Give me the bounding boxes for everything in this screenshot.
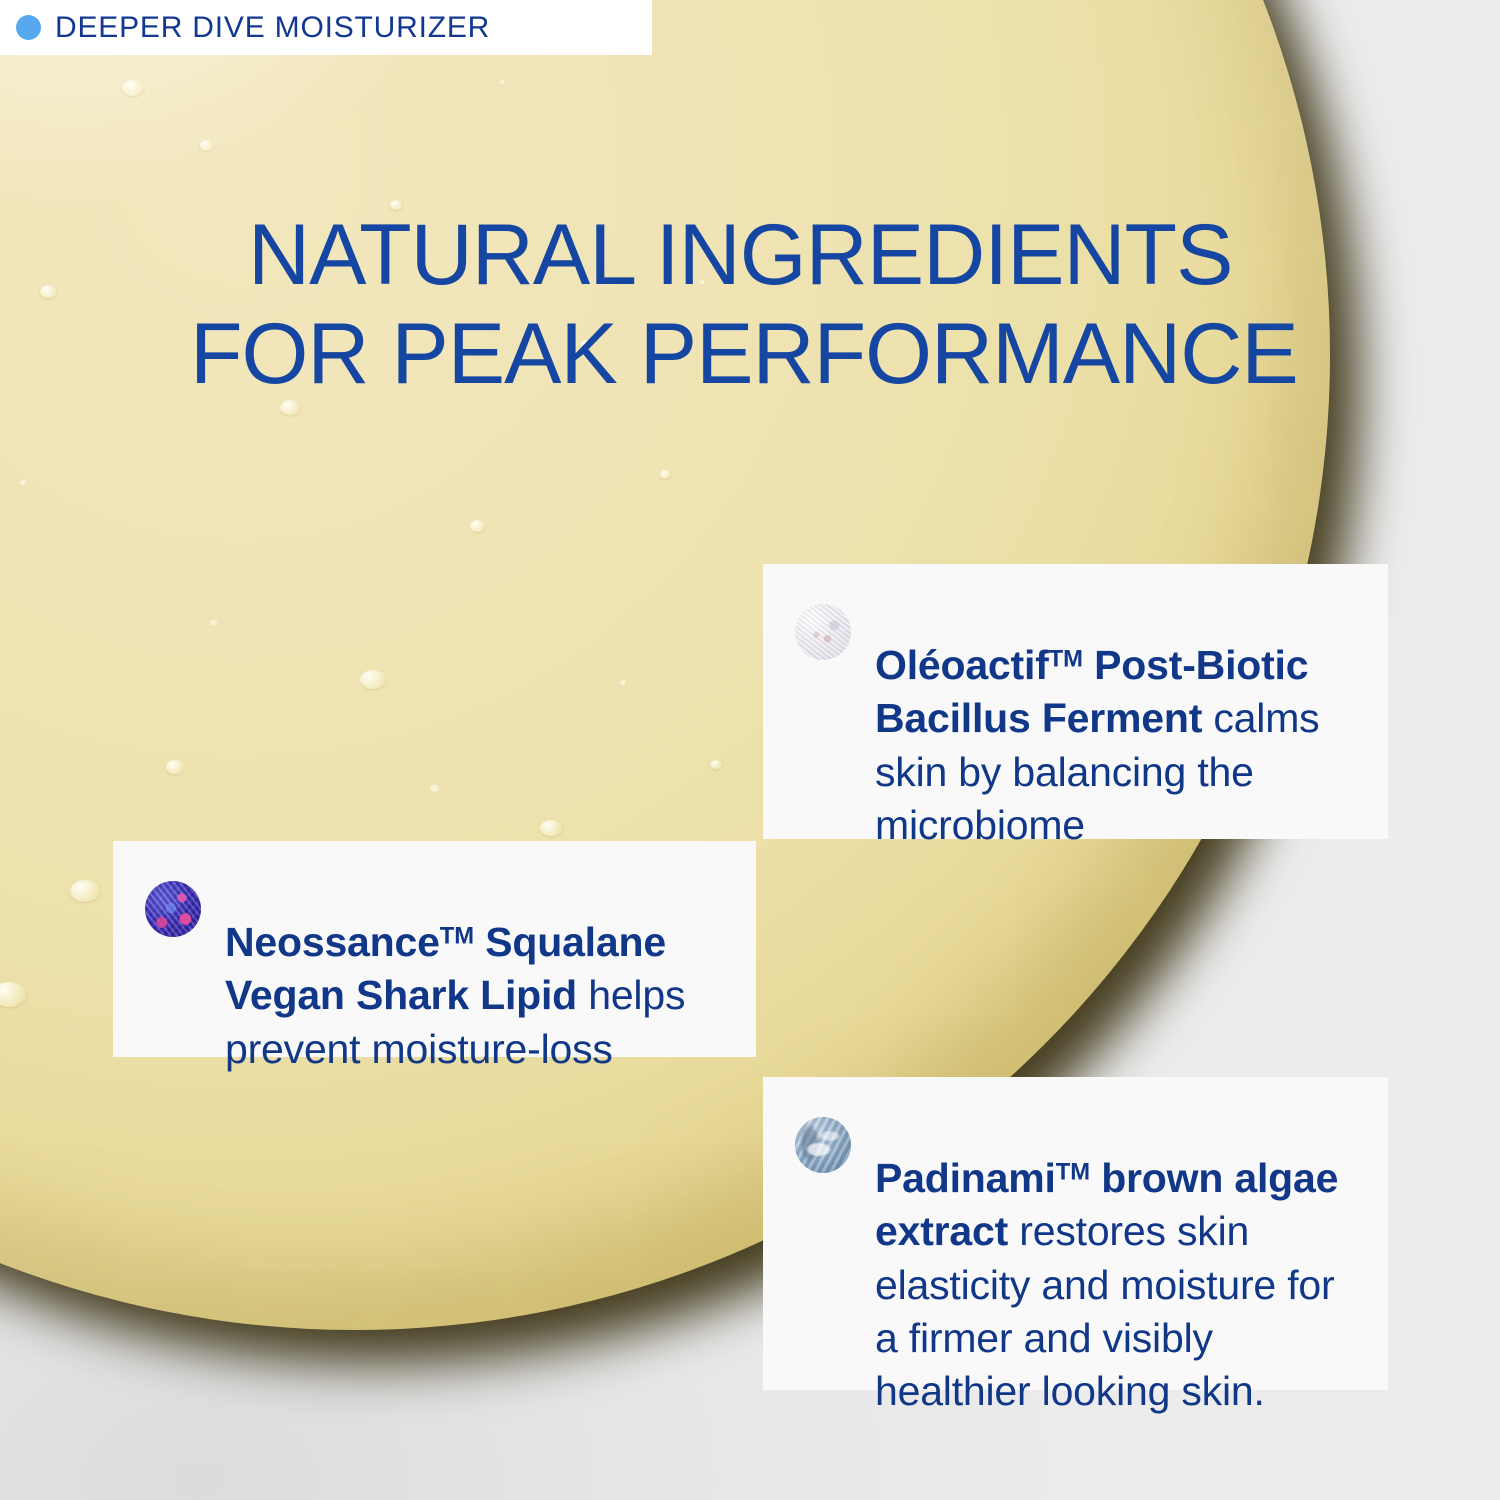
ingredient-name: Oléoactif — [875, 642, 1049, 688]
ingredient-name: Neossance — [225, 919, 440, 965]
eyebrow-banner: DEEPER DIVE MOISTURIZER — [0, 0, 652, 55]
ingredient-card-neossance: NeossanceTM Squalane Vegan Shark Lipid h… — [113, 841, 756, 1057]
ingredient-card-padinami: PadinamiTM brown algae extract restores … — [763, 1077, 1388, 1390]
trademark-symbol: TM — [1056, 1159, 1090, 1186]
ingredient-card-oleoactif: OléoactifTM Post-Biotic Bacillus Ferment… — [763, 564, 1388, 839]
page-title-line-2: FOR PEAK PERFORMANCE — [190, 305, 1428, 405]
ingredient-description: OléoactifTM Post-Biotic Bacillus Ferment… — [875, 639, 1358, 768]
neossance-ingredient-icon — [145, 881, 201, 937]
trademark-symbol: TM — [1049, 646, 1083, 673]
ingredient-description: PadinamiTM brown algae extract restores … — [875, 1152, 1358, 1319]
oleoactif-ingredient-icon — [795, 604, 851, 660]
page-title: NATURAL INGREDIENTS FOR PEAK PERFORMANCE — [248, 206, 1428, 406]
padinami-ingredient-icon — [795, 1117, 851, 1173]
blue-dot-icon — [16, 15, 41, 40]
trademark-symbol: TM — [440, 923, 474, 950]
ingredient-name: Padinami — [875, 1155, 1056, 1201]
ingredient-description: NeossanceTM Squalane Vegan Shark Lipid h… — [225, 916, 726, 986]
page-title-line-1: NATURAL INGREDIENTS — [248, 207, 1232, 303]
eyebrow-label: DEEPER DIVE MOISTURIZER — [55, 13, 490, 43]
promo-canvas: DEEPER DIVE MOISTURIZER NATURAL INGREDIE… — [0, 0, 1500, 1500]
